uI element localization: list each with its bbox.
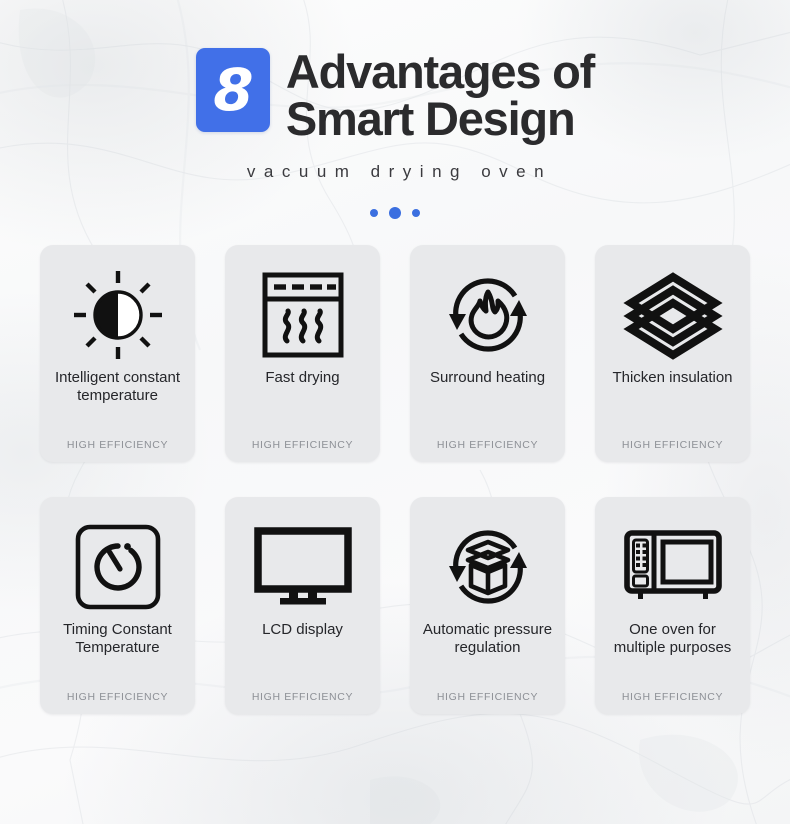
flame-circular-arrows-icon	[441, 265, 535, 365]
stacked-layers-icon	[623, 265, 723, 365]
dot-separator	[0, 207, 790, 219]
feature-card-footer: HIGH EFFICIENCY	[233, 439, 372, 462]
feature-card-title: LCD display	[262, 621, 343, 691]
timer-square-icon	[73, 517, 163, 617]
feature-card-lcd-display[interactable]: LCD display HIGH EFFICIENCY	[225, 497, 380, 714]
dot-right	[412, 209, 420, 217]
feature-card-title: Intelligent constant temperature	[48, 369, 187, 439]
brightness-sun-icon	[72, 265, 164, 365]
box-circular-arrows-icon	[441, 517, 535, 617]
feature-card-footer: HIGH EFFICIENCY	[48, 439, 187, 462]
feature-card-footer: HIGH EFFICIENCY	[233, 691, 372, 714]
feature-card-footer: HIGH EFFICIENCY	[603, 439, 742, 462]
feature-card-title: Timing Constant Temperature	[48, 621, 187, 691]
feature-card-intelligent-constant-temperature[interactable]: Intelligent constant temperature HIGH EF…	[40, 245, 195, 462]
dot-left	[370, 209, 378, 217]
microwave-oven-icon	[623, 517, 723, 617]
feature-card-fast-drying[interactable]: Fast drying HIGH EFFICIENCY	[225, 245, 380, 462]
monitor-display-icon	[253, 517, 353, 617]
feature-card-footer: HIGH EFFICIENCY	[48, 691, 187, 714]
feature-card-timing-constant-temperature[interactable]: Timing Constant Temperature HIGH EFFICIE…	[40, 497, 195, 714]
page-title-line-2: Smart Design	[286, 96, 594, 143]
feature-card-title: Fast drying	[265, 369, 339, 439]
feature-card-automatic-pressure-regulation[interactable]: Automatic pressure regulation HIGH EFFIC…	[410, 497, 565, 714]
feature-card-footer: HIGH EFFICIENCY	[418, 691, 557, 714]
header: 8 Advantages of Smart Design vacuum dryi…	[0, 0, 790, 219]
page-title-line-1: Advantages of	[286, 49, 594, 96]
feature-card-thicken-insulation[interactable]: Thicken insulation HIGH EFFICIENCY	[595, 245, 750, 462]
feature-card-surround-heating[interactable]: Surround heating HIGH EFFICIENCY	[410, 245, 565, 462]
oven-heat-waves-icon	[259, 265, 347, 365]
feature-card-title: Surround heating	[430, 369, 545, 439]
feature-card-one-oven-multiple-purposes[interactable]: One oven for multiple purposes HIGH EFFI…	[595, 497, 750, 714]
feature-card-footer: HIGH EFFICIENCY	[603, 691, 742, 714]
feature-grid: Intelligent constant temperature HIGH EF…	[40, 245, 750, 714]
title-row: 8 Advantages of Smart Design	[0, 48, 790, 142]
dot-center	[389, 207, 401, 219]
feature-card-title: One oven for multiple purposes	[603, 621, 742, 691]
page-subtitle: vacuum drying oven	[0, 162, 790, 182]
number-badge: 8	[196, 48, 270, 132]
page-root: 8 Advantages of Smart Design vacuum dryi…	[0, 0, 790, 824]
page-title: Advantages of Smart Design	[286, 48, 594, 142]
feature-card-title: Thicken insulation	[612, 369, 732, 439]
badge-number: 8	[213, 61, 252, 119]
feature-card-title: Automatic pressure regulation	[418, 621, 557, 691]
feature-card-footer: HIGH EFFICIENCY	[418, 439, 557, 462]
